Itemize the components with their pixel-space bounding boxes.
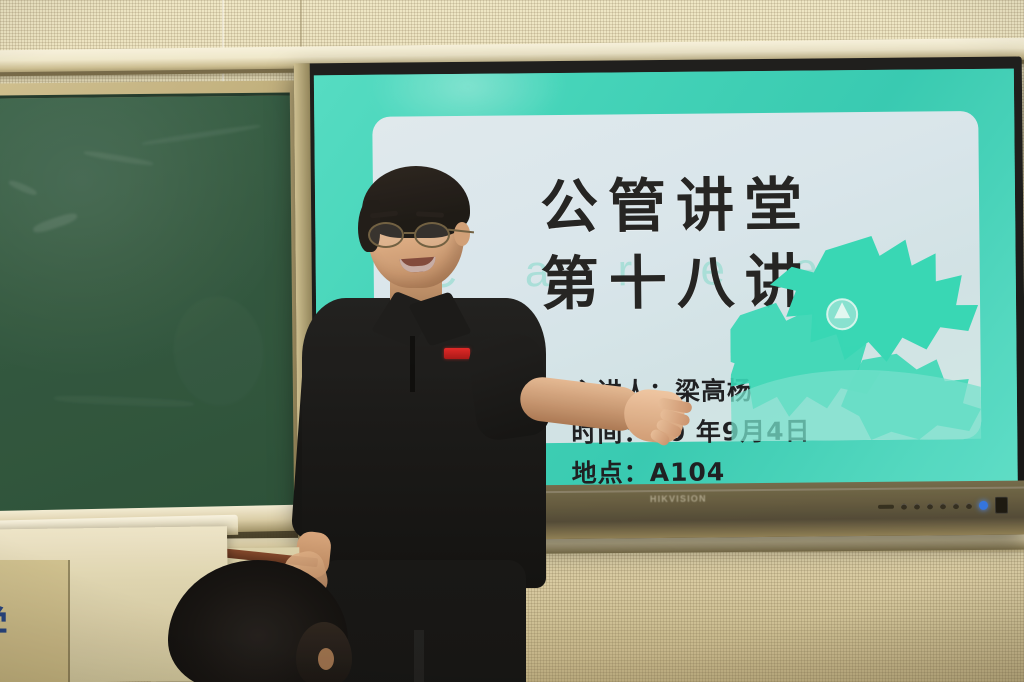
chalk-smudge (142, 123, 261, 146)
chalk-smudge (169, 293, 268, 410)
chalk-smudge (8, 179, 38, 197)
glasses-icon (366, 222, 470, 248)
chalk-smudge (32, 211, 79, 235)
audience-ear (318, 648, 334, 670)
shirt-logo-badge (444, 348, 470, 359)
glasses-lens (414, 222, 450, 248)
power-led-icon (979, 501, 988, 510)
usb-port-icon[interactable] (995, 497, 1008, 514)
display-button[interactable] (940, 503, 946, 509)
presenter-leg-gap (414, 630, 424, 682)
chalkboard (0, 92, 294, 513)
glasses-bridge (404, 232, 416, 234)
display-button[interactable] (914, 503, 920, 509)
display-control-panel[interactable] (878, 497, 1008, 515)
ir-receiver-icon (878, 504, 894, 508)
chalk-smudge (54, 394, 194, 408)
university-sign: 大学 Business (0, 560, 70, 682)
monstera-leaf-icon (729, 209, 981, 441)
sign-chinese-text: 大学 (0, 594, 12, 652)
photo-canvas: C a r e e r 公管讲堂 第十八讲 主讲人：梁高杨 时间：20 年9月4… (0, 0, 1024, 682)
slide-emblem-icon (827, 299, 857, 329)
display-button[interactable] (966, 503, 972, 509)
slide-leaf-decoration (729, 209, 981, 441)
display-button[interactable] (927, 503, 933, 509)
display-button[interactable] (953, 503, 959, 509)
display-button[interactable] (901, 503, 907, 509)
glasses-temple (448, 229, 474, 234)
glasses-lens (368, 222, 404, 248)
chalk-smudge (83, 150, 153, 167)
polo-placket (410, 336, 415, 392)
